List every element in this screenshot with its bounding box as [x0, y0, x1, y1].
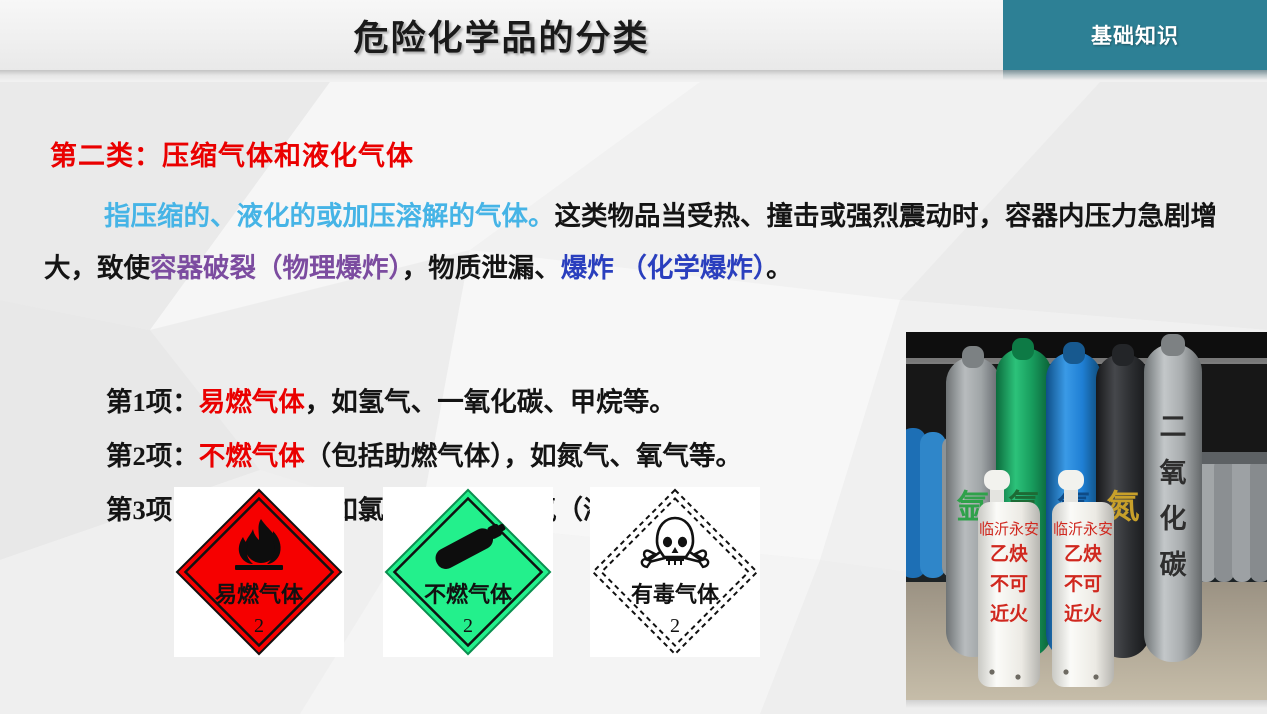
item-rest: （包括助燃气体），如氮气、氧气等。 [305, 441, 742, 471]
svg-text:近火: 近火 [1064, 603, 1103, 625]
cylinder-carbon-dioxide: 二 氧 化 碳 [1144, 334, 1202, 662]
cylinder-acetylene-2: 临沂永安 乙炔 不可 近火 [1052, 470, 1114, 687]
svg-text:临沂永安: 临沂永安 [1053, 521, 1113, 538]
toxic-gas-placard: 有毒气体 2 [590, 487, 760, 657]
photo-shadow [906, 700, 1267, 708]
slide: 危险化学品的分类 基础知识 第二类：压缩气体和液化气体 指压缩的、液化的或加压溶… [0, 0, 1267, 714]
paragraph-segment-chemical-explosion: 爆炸 （化学爆炸） [561, 253, 766, 283]
svg-text:近火: 近火 [990, 603, 1029, 625]
list-item: 第1项：易燃气体，如氢气、一氧化碳、甲烷等。 [106, 380, 676, 419]
item-rest: ，如氢气、一氧化碳、甲烷等。 [305, 387, 676, 417]
paragraph-segment-leak: ，物质泄漏、 [402, 253, 561, 283]
paragraph-segment-definition: 指压缩的、液化的或加压溶解的气体。 [104, 201, 555, 231]
flammable-gas-placard: 易燃气体 2 [174, 487, 344, 657]
svg-text:乙炔: 乙炔 [990, 543, 1028, 565]
svg-text:乙炔: 乙炔 [1064, 543, 1102, 565]
svg-text:二: 二 [1160, 412, 1187, 442]
placard-class-number: 2 [254, 615, 264, 637]
non-flammable-gas-placard: 不燃气体 2 [383, 487, 553, 657]
svg-text:氧: 氧 [1159, 458, 1187, 488]
cylinder-acetylene-1: 临沂永安 乙炔 不可 近火 [978, 470, 1040, 687]
header-category-tag: 基础知识 [1003, 0, 1267, 70]
item-highlight: 易燃气体 [199, 387, 305, 417]
gas-cylinders-photo: 氩 氢 氧 氮 二 氧 [906, 332, 1267, 700]
placard-label-text: 易燃气体 [215, 582, 304, 607]
paragraph-segment-physical-explosion: 容器破裂（物理爆炸） [150, 253, 402, 283]
svg-text:化: 化 [1160, 504, 1187, 534]
placard-class-number: 2 [670, 615, 680, 637]
section-title: 第二类：压缩气体和液化气体 [50, 134, 414, 173]
item-label: 第1项： [106, 387, 199, 417]
svg-text:临沂永安: 临沂永安 [979, 521, 1039, 538]
item-label: 第2项： [106, 441, 199, 471]
placard-label-text: 不燃气体 [424, 582, 513, 607]
item-highlight: 不燃气体 [199, 441, 305, 471]
placard-class-number: 2 [463, 615, 473, 637]
header-tag-shadow [1003, 70, 1267, 80]
list-item: 第2项：不燃气体（包括助燃气体），如氮气、氧气等。 [106, 434, 742, 473]
paragraph-segment-end: 。 [766, 253, 793, 283]
svg-text:不可: 不可 [990, 574, 1028, 595]
svg-text:碳: 碳 [1160, 550, 1188, 580]
page-title: 危险化学品的分类 [0, 0, 1003, 70]
slide-header: 危险化学品的分类 基础知识 [0, 0, 1267, 70]
section-paragraph: 指压缩的、液化的或加压溶解的气体。这类物品当受热、撞击或强烈震动时，容器内压力急… [44, 190, 1244, 294]
placard-label-text: 有毒气体 [631, 582, 720, 607]
svg-text:不可: 不可 [1064, 574, 1102, 595]
